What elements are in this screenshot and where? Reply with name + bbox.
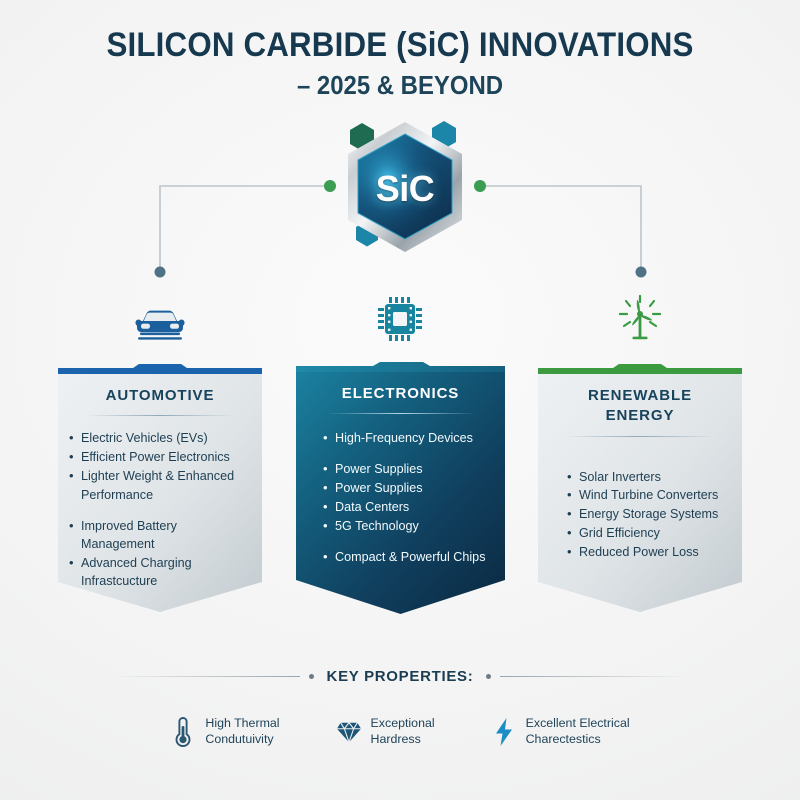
- card-title-electronics: ELECTRONICS: [307, 384, 494, 404]
- list-item: Wind Turbine Converters: [567, 487, 731, 505]
- list-item: Compact & Powerful Chips: [323, 549, 494, 567]
- list-item: Power Supplies: [323, 480, 494, 498]
- list-item: Power Supplies: [323, 461, 494, 479]
- wind-turbine-icon: [605, 288, 675, 346]
- key-property-thermal: High Thermal Condutuivity: [170, 715, 279, 749]
- list-item-continuation: Infrastcucture: [69, 573, 251, 591]
- list-item: Efficient Power Electronics: [69, 449, 251, 467]
- key-property-label: Exceptional Hardress: [371, 716, 435, 748]
- card-electronics[interactable]: ELECTRONICS High-Frequency Devices Power…: [293, 362, 503, 624]
- list-item: Data Centers: [323, 499, 494, 517]
- key-property-label: High Thermal Condutuivity: [205, 716, 279, 748]
- key-properties-row: High Thermal Condutuivity Exceptional Ha…: [0, 715, 800, 749]
- node-dot-automotive: [155, 267, 166, 278]
- key-properties-header: KEY PROPERTIES:: [0, 668, 800, 685]
- list-item: Advanced Charging: [69, 555, 251, 573]
- list-item: Solar Inverters: [567, 469, 731, 487]
- card-title-automotive: AUTOMOTIVE: [69, 386, 251, 406]
- card-title-renewable: RENEWABLE ENERGY: [549, 386, 731, 427]
- sic-logo: SiC: [320, 112, 490, 267]
- list-item: Grid Efficiency: [567, 525, 731, 543]
- divider-left: [110, 676, 300, 677]
- card-title-rule: [565, 436, 715, 437]
- list-item: Reduced Power Loss: [567, 544, 731, 562]
- thermometer-icon: [170, 715, 196, 749]
- divider-dot-right: [486, 674, 491, 679]
- key-property-electrical: Excellent Electrical Charectestics: [491, 715, 630, 749]
- card-list-renewable: Solar Inverters Wind Turbine Converters …: [549, 469, 731, 562]
- key-properties-title: KEY PROPERTIES:: [323, 668, 478, 685]
- list-item: Improved Battery Management: [69, 518, 251, 554]
- list-item-continuation: Performance: [69, 487, 251, 505]
- divider-dot-left: [309, 674, 314, 679]
- lightning-bolt-icon: [491, 715, 517, 749]
- list-item: 5G Technology: [323, 518, 494, 536]
- list-item: Electric Vehicles (EVs): [69, 430, 251, 448]
- divider-right: [500, 676, 690, 677]
- diamond-icon: [336, 715, 362, 749]
- card-title-rule: [85, 415, 235, 416]
- microchip-icon: [365, 290, 435, 348]
- key-property-hardness: Exceptional Hardress: [336, 715, 435, 749]
- infographic-canvas: SILICON CARBIDE (SiC) INNOVATIONS – 2025…: [0, 0, 800, 800]
- card-list-electronics: High-Frequency Devices Power Supplies Po…: [307, 430, 494, 566]
- card-list-automotive: Electric Vehicles (EVs) Efficient Power …: [69, 430, 251, 591]
- card-renewable[interactable]: RENEWABLE ENERGY Solar Inverters Wind Tu…: [535, 364, 745, 629]
- key-property-label: Excellent Electrical Charectestics: [526, 716, 630, 748]
- list-item: High-Frequency Devices: [323, 430, 494, 448]
- card-automotive[interactable]: AUTOMOTIVE Electric Vehicles (EVs) Effic…: [55, 364, 265, 629]
- car-icon: [125, 294, 195, 352]
- node-dot-renewable: [636, 267, 647, 278]
- card-title-rule: [326, 413, 476, 414]
- list-item: Lighter Weight & Enhanced: [69, 468, 251, 486]
- list-item: Energy Storage Systems: [567, 506, 731, 524]
